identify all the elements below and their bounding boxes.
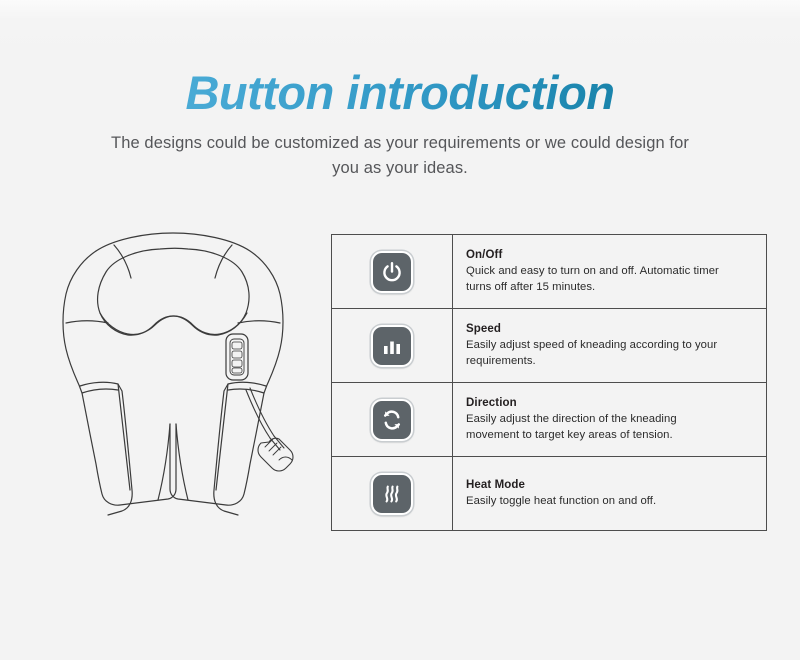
feature-icon-cell (332, 309, 453, 382)
feature-text-cell: Direction Easily adjust the direction of… (453, 383, 766, 456)
power-cord (246, 388, 284, 450)
power-icon (380, 260, 404, 284)
massager-neck-opening (98, 248, 250, 335)
feature-icon-cell (332, 383, 453, 456)
heat-mode-button[interactable] (371, 473, 413, 515)
table-row: Direction Easily adjust the direction of… (332, 383, 766, 457)
power-plug (258, 438, 293, 471)
feature-title: On/Off (466, 248, 752, 264)
bar-chart-icon (381, 335, 403, 357)
power-button[interactable] (371, 251, 413, 293)
feature-description: Quick and easy to turn on and off. Autom… (466, 263, 728, 295)
massager-left-strap (80, 382, 132, 515)
product-illustration (18, 228, 328, 528)
feature-title: Direction (466, 396, 752, 412)
rotate-arrows-icon (380, 408, 404, 432)
feature-text-cell: On/Off Quick and easy to turn on and off… (453, 235, 766, 308)
table-row: On/Off Quick and easy to turn on and off… (332, 235, 766, 309)
table-row: Heat Mode Easily toggle heat function on… (332, 457, 766, 531)
speed-button[interactable] (371, 325, 413, 367)
feature-description: Easily adjust the direction of the knead… (466, 411, 728, 443)
feature-text-cell: Heat Mode Easily toggle heat function on… (453, 457, 766, 530)
feature-icon-cell (332, 235, 453, 308)
massager-outer-body (63, 233, 283, 505)
feature-icon-cell (332, 457, 453, 530)
control-panel (226, 334, 248, 380)
heat-waves-icon (380, 482, 404, 506)
feature-description: Easily adjust speed of kneading accordin… (466, 337, 728, 369)
direction-button[interactable] (371, 399, 413, 441)
feature-table: On/Off Quick and easy to turn on and off… (331, 234, 767, 531)
feature-description: Easily toggle heat function on and off. (466, 493, 728, 509)
massager-center-folds (158, 424, 188, 500)
page-subtitle: The designs could be customized as your … (110, 131, 690, 181)
page-root: Button introduction The designs could be… (0, 0, 800, 660)
feature-text-cell: Speed Easily adjust speed of kneading ac… (453, 309, 766, 382)
header: Button introduction The designs could be… (0, 0, 800, 181)
page-title: Button introduction (0, 68, 800, 117)
feature-title: Heat Mode (466, 478, 752, 494)
table-row: Speed Easily adjust speed of kneading ac… (332, 309, 766, 383)
feature-title: Speed (466, 322, 752, 338)
